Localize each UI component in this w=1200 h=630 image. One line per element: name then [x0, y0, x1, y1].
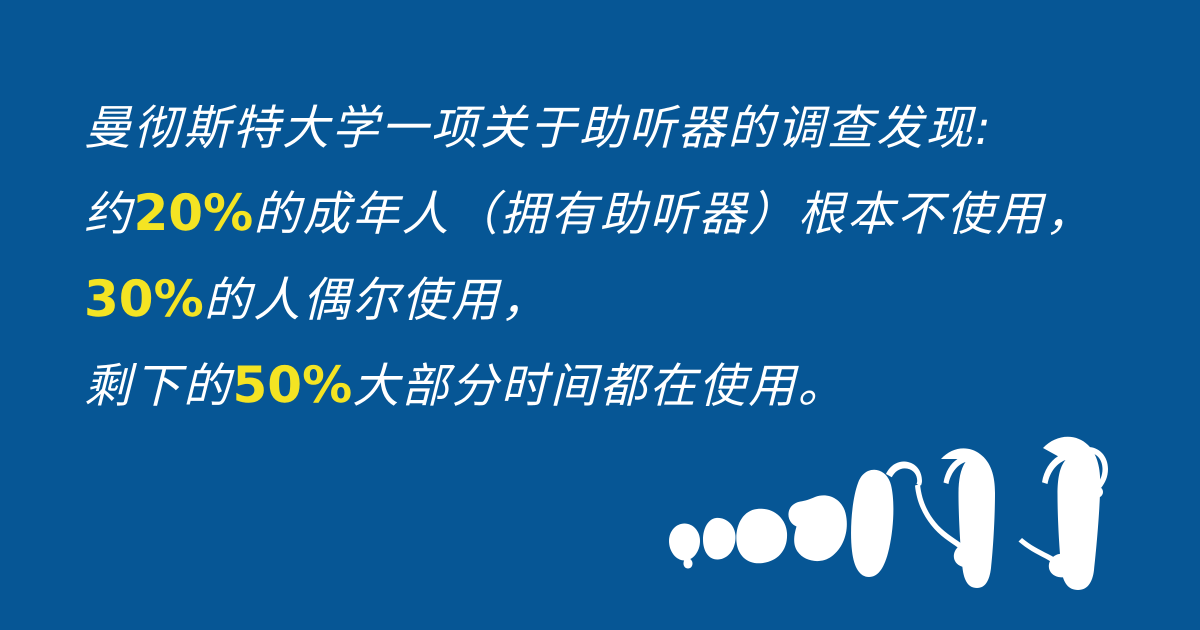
bte-hearing-aid-icon — [915, 448, 995, 588]
highlight-occasional-use-percent: 30% — [84, 270, 204, 328]
highlight-most-of-time-percent: 50% — [233, 356, 353, 414]
line1-text: 曼彻斯特大学一项关于助听器的调查发现: — [84, 101, 993, 156]
ric-hearing-aid-icon — [851, 462, 922, 577]
poster-canvas: 曼彻斯特大学一项关于助听器的调查发现: 约20%的成年人（拥有助听器）根本不使用… — [0, 0, 1200, 630]
statistic-text-block: 曼彻斯特大学一项关于助听器的调查发现: 约20%的成年人（拥有助听器）根本不使用… — [84, 86, 1104, 429]
line2-suffix: 的成年人（拥有助听器）根本不使用， — [253, 187, 1095, 242]
line2-prefix: 约 — [84, 187, 134, 242]
line3-suffix: 的人偶尔使用， — [204, 273, 551, 328]
ite-hearing-aid-icon — [788, 495, 846, 561]
hearing-aid-illustration — [660, 418, 1130, 603]
iic-hearing-aid-icon — [669, 524, 700, 569]
text-line-1: 曼彻斯特大学一项关于助听器的调查发现: — [84, 86, 1104, 171]
text-line-2: 约20%的成年人（拥有助听器）根本不使用， — [84, 171, 1104, 257]
itc-hearing-aid-icon — [736, 509, 787, 564]
line4-prefix: 剩下的 — [84, 359, 233, 414]
cic-hearing-aid-icon — [703, 518, 736, 560]
highlight-never-use-percent: 20% — [134, 184, 254, 242]
text-line-3: 30%的人偶尔使用， — [84, 257, 1104, 343]
text-line-4: 剩下的50%大部分时间都在使用。 — [84, 343, 1104, 429]
power-bte-hearing-aid-icon — [1019, 437, 1109, 590]
line4-suffix: 大部分时间都在使用。 — [352, 359, 847, 414]
